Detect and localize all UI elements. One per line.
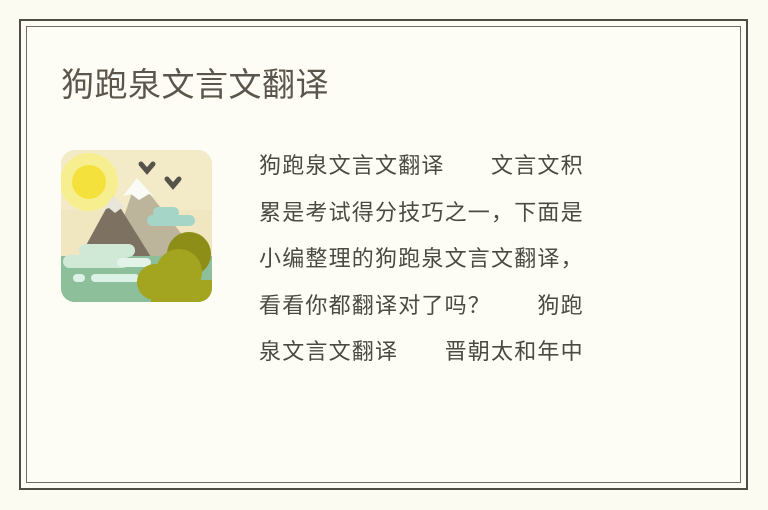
article-card: 狗跑泉文言文翻译 <box>19 19 748 490</box>
article-body: 狗跑泉文言文翻译 文言文积 累是考试得分技巧之一，下面是 小编整理的狗跑泉文言文… <box>61 150 718 472</box>
article-excerpt: 狗跑泉文言文翻译 文言文积 累是考试得分技巧之一，下面是 小编整理的狗跑泉文言文… <box>259 144 671 377</box>
excerpt-line: 累是考试得分技巧之一，下面是 <box>259 191 671 238</box>
excerpt-line: 泉文言文翻译 晋朝太和年中 <box>259 330 671 377</box>
excerpt-line: 小编整理的狗跑泉文言文翻译， <box>259 237 671 284</box>
excerpt-line: 狗跑泉文言文翻译 文言文积 <box>259 144 671 191</box>
article-inner-frame: 狗跑泉文言文翻译 <box>26 26 741 483</box>
page-title: 狗跑泉文言文翻译 <box>61 65 329 105</box>
mountain-landscape-illustration[interactable] <box>61 150 212 302</box>
excerpt-line: 看看你都翻译对了吗？ 狗跑 <box>259 284 671 331</box>
